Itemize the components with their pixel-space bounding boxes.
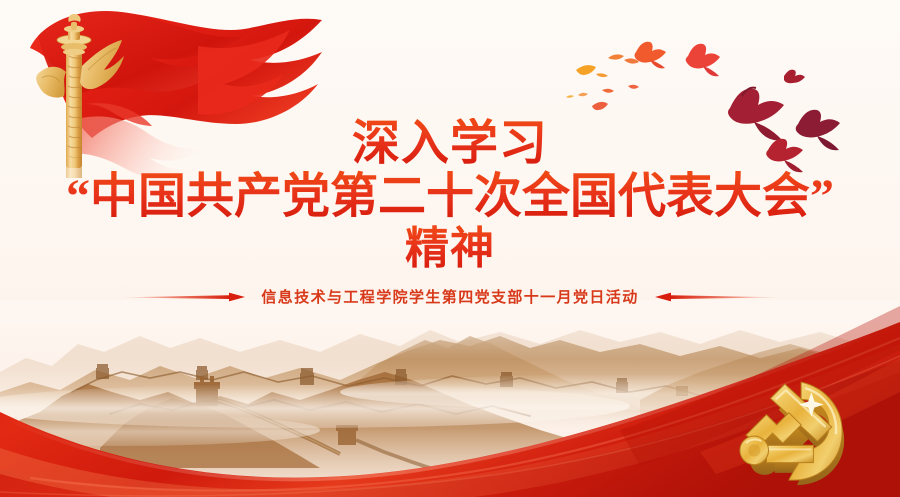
- arrow-left-rule-icon: [655, 292, 783, 302]
- arrow-right-rule-icon: [117, 292, 245, 302]
- title-line-1: 深入学习: [0, 118, 900, 170]
- subtitle-text: 信息技术与工程学院学生第四党支部十一月党日活动: [261, 286, 638, 307]
- poster-canvas: 深入学习 “中国共产党第二十次全国代表大会” 精神 信息技术与工程学院学生第四党…: [0, 0, 900, 497]
- title-line-3: 精神: [0, 224, 900, 274]
- title-line-2: “中国共产党第二十次全国代表大会”: [0, 170, 900, 224]
- subtitle-row: 信息技术与工程学院学生第四党支部十一月党日活动: [0, 286, 900, 307]
- title-block: 深入学习 “中国共产党第二十次全国代表大会” 精神: [0, 118, 900, 274]
